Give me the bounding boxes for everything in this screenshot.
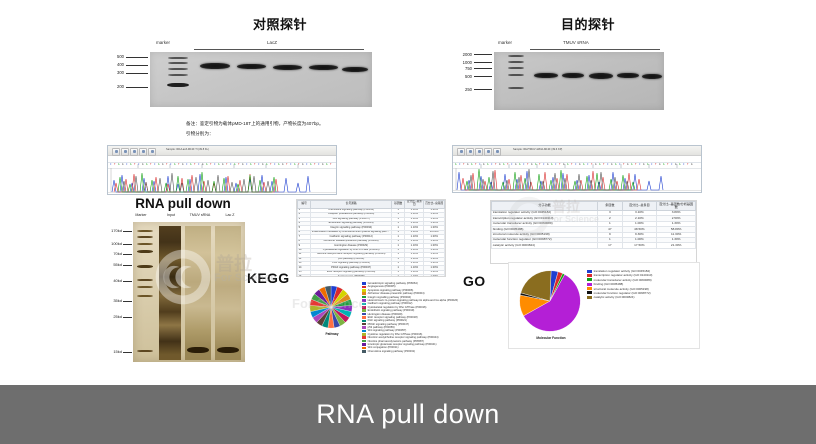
control-probe-title: 对照探针 [150,14,410,33]
protein-marker-band-6 [137,286,153,288]
go-table: 分子功能 条目数 百分比--总条目 百分比--基因数/分析基因数 transla… [491,201,696,249]
legend-swatch [362,343,366,346]
target-gel-lane-bracket [530,49,660,50]
target-ladder-tick-2 [474,68,492,69]
kegg-th-1: 信号通路 [311,201,392,209]
zoom-icon[interactable] [148,148,156,156]
legend-swatch [362,320,366,323]
protein-lane-label-1: Input [159,213,183,217]
legend-label: binding (GO:0005488) [594,282,624,286]
chromatogram-right-sample-label: Sample: 002/TMUV sRNA-M13F (39.6 KP) [513,148,562,151]
table-cell: 21.30% [657,243,696,248]
control-sample-band-4 [309,65,338,70]
note-line-2: 引物分别为： [186,131,214,138]
legend-item: structural molecule activity (GO:0005198… [587,287,652,291]
print-icon[interactable] [130,148,138,156]
chromatogram-left-trace [108,166,336,193]
control-marker-band-2 [168,68,188,70]
legend-item: Chemokine signaling pathway (P00031) [362,350,458,353]
chromatogram-right-toolbar[interactable]: Sample: 002/TMUV sRNA-M13F (39.6 KP) [453,146,701,156]
protein-marker-label-1: 100kd [100,241,122,246]
protein-lacz-band [217,347,239,353]
legend-swatch [587,278,592,281]
legend-label: structural molecule activity (GO:0005198… [594,287,649,291]
target-gel-image [494,52,664,110]
control-marker-band-4 [167,83,189,87]
control-marker-band-3 [168,74,188,76]
control-ladder-label-2: 300 [106,70,124,75]
target-ladder-tick-0 [474,54,492,55]
kegg-th-0: 编号 [298,201,311,209]
target-marker-band-1 [508,61,524,63]
protein-gel-panel: RNA pull down [108,196,258,211]
target-ladder-label-0: 2000 [456,52,472,57]
footer-title: RNA pull down [316,399,500,430]
legend-swatch [587,287,592,290]
control-ladder-tick-0 [126,57,148,58]
protein-marker-band-0 [137,230,153,232]
target-sample-band-1 [534,73,558,78]
go-chart-card: Molecular Function translation regulator… [508,262,700,349]
trace-peaks-icon [108,166,336,193]
target-sample-band-3 [589,73,613,79]
protein-marker-tick-6 [123,317,132,318]
target-ladder-tick-3 [474,76,492,77]
protein-marker-tick-4 [123,281,132,282]
kegg-legend: Gonadotropin signaling pathway (P06664)A… [362,282,458,353]
go-pie-caption: Molecular Function [511,336,591,340]
trace-peaks-icon [453,166,701,191]
protein-marker-tick-0 [123,231,132,232]
target-sample-band-5 [642,74,662,79]
control-probe-gel: marker LacZ 500 400 300 200 [132,40,412,115]
protein-marker-tick-5 [123,301,132,302]
protein-marker-label-0: 170kd [100,228,122,233]
protein-gel-title: RNA pull down [108,196,258,211]
protein-marker-band-5 [137,279,153,281]
legend-swatch [362,282,366,285]
legend-label: molecular transducer activity (GO:006008… [594,278,652,282]
kegg-th-3: 百分比--总条目 [405,201,424,209]
target-sample-band-4 [617,73,639,78]
control-gel-lane-bracket [194,49,364,50]
legend-item: molecular function regulator (GO:0098772… [587,291,652,295]
go-section-label: GO [463,273,485,289]
control-marker-band-1 [168,62,188,64]
control-ladder-label-0: 500 [106,54,124,59]
legend-swatch [362,350,366,353]
protein-marker-band-2 [137,243,153,245]
control-probe-panel: 对照探针 [150,14,410,33]
legend-swatch [362,323,366,326]
kegg-pie-icon [308,284,354,330]
legend-label: translation regulator activity (GO:00451… [594,269,651,273]
legend-item: catalytic activity (GO:0003824) [587,295,652,299]
save-icon[interactable] [484,148,492,156]
go-th-3: 百分比--基因数/分析基因数 [657,202,696,211]
target-probe-title: 目的探针 [478,14,698,33]
chromatogram-left-toolbar[interactable]: Sample: 001/LacZ-M13F TI (39.8 KL) [108,146,336,156]
protein-marker-label-7: 15kd [100,349,122,354]
control-sample-band-2 [237,64,266,69]
protein-marker-band-4 [137,265,153,268]
protein-marker-label-5: 35kd [100,298,122,303]
control-ladder-tick-2 [126,73,148,74]
target-marker-band-4 [508,87,524,89]
legend-item: molecular transducer activity (GO:006008… [587,278,652,282]
legend-swatch [362,340,366,343]
chromatogram-right[interactable]: Sample: 002/TMUV sRNA-M13F (39.6 KP) AC … [452,145,702,193]
protein-lane-label-3: Lac Z [219,213,241,217]
table-row: 16Angiogenesis (P00005)11.10%1.30% [298,275,445,277]
legend-swatch [587,291,592,294]
go-table-body: translation regulator activity (GO:00451… [492,210,696,248]
kegg-pie-caption: Pathway [306,332,358,336]
table-cell: 1.30% [424,275,445,277]
table-cell: Angiogenesis (P00005) [311,275,392,277]
control-ladder-tick-1 [126,65,148,66]
kegg-th-2: 基因数 [392,201,405,209]
protein-marker-tick-3 [123,265,132,266]
target-ladder-label-1: 1000 [456,60,472,65]
protein-gel-image [133,222,245,362]
protein-marker-band-7 [137,295,153,297]
control-ladder-tick-3 [126,87,148,88]
table-cell: 1 [392,275,405,277]
table-cell: 17 [598,243,622,248]
control-gel-image [150,52,372,107]
kegg-table: 编号 信号通路 基因数 百分比--总条目 百分比--总基因 1Chemokine… [297,200,445,277]
legend-swatch [362,289,366,292]
legend-swatch [587,283,592,286]
target-ladder-label-4: 250 [456,87,472,92]
chromatogram-left-sample-label: Sample: 001/LacZ-M13F TI (39.8 KL) [166,148,209,151]
print-icon[interactable] [475,148,483,156]
control-ladder-label-1: 400 [106,62,124,67]
protein-marker-tick-7 [123,352,132,353]
legend-label: catalytic activity (GO:0003824) [594,295,635,299]
table-cell: 16 [298,275,311,277]
protein-marker-label-6: 25kd [100,314,122,319]
export-icon[interactable] [121,148,129,156]
control-ladder-label-3: 200 [106,84,124,89]
go-th-1: 条目数 [598,202,622,211]
target-ladder-label-3: 500 [456,74,472,79]
target-ladder-tick-1 [474,62,492,63]
legend-swatch [362,306,366,309]
go-legend: translation regulator activity (GO:00451… [587,269,652,300]
legend-swatch [362,313,366,316]
kegg-th-4: 百分比--总基因 [424,201,445,209]
control-sample-band-5 [342,67,368,72]
legend-item: transcription regulator activity (GO:014… [587,273,652,277]
kegg-table-body: 1Chemokine signaling pathway (P00031)11.… [298,208,445,277]
target-probe-gel: marker TMUV sRNA 2000 1000 750 500 250 [478,40,693,115]
kegg-section-label: KEGG [247,270,289,286]
protein-tmuv-lane-smear [185,226,211,360]
go-table-header-row: 分子功能 条目数 百分比--总条目 百分比--基因数/分析基因数 [492,202,696,211]
target-ladder-tick-4 [474,89,492,90]
control-marker-band-0 [168,57,188,59]
chromatogram-left[interactable]: Sample: 001/LacZ-M13F TI (39.8 KL) CT AG… [107,145,337,195]
control-gel-lane-group-label: LacZ [267,40,277,45]
kegg-table-header-row: 编号 信号通路 基因数 百分比--总条目 百分比--总基因 [298,201,445,209]
zoom-icon[interactable] [493,148,501,156]
legend-label: transcription regulator activity (GO:014… [594,273,653,277]
kegg-chart: Pathway Gonadotropin signaling pathway (… [300,282,445,344]
target-marker-band-2 [508,67,524,69]
protein-lane-label-2: TMUV sRNA [183,213,217,217]
note-line-1: 备注：鉴定引物为载体pMD-18T上的通用引物，产物长度为407bp。 [186,121,324,128]
legend-swatch [362,296,366,299]
table-row: catalytic activity (GO:0003824)1717.50%2… [492,243,696,248]
legend-swatch [362,316,366,319]
legend-swatch [362,330,366,333]
protein-marker-band-8 [137,350,153,352]
target-ladder-label-2: 750 [456,66,472,71]
legend-swatch [362,309,366,312]
chromatogram-right-trace [453,166,701,191]
protein-lane-label-0: Marker [128,213,154,217]
target-probe-panel: 目的探针 [478,14,698,33]
legend-swatch [362,299,366,302]
legend-label: Chemokine signaling pathway (P00031) [368,350,416,353]
target-marker-band-3 [508,74,524,76]
target-sample-band-2 [562,73,584,78]
go-pie-icon [517,268,583,334]
legend-swatch [362,326,366,329]
export-icon[interactable] [466,148,474,156]
target-gel-lane-group-label: TMUV sRNA [563,40,589,45]
protein-tmuv-band [187,347,209,353]
protein-marker-band-1 [137,236,153,238]
legend-item: translation regulator activity (GO:00451… [587,269,652,273]
legend-swatch [587,270,592,273]
open-icon[interactable] [457,148,465,156]
open-icon[interactable] [112,148,120,156]
protein-marker-label-4: 40kd [100,278,122,283]
go-th-0: 分子功能 [492,202,598,211]
legend-swatch [362,286,366,289]
legend-swatch [362,303,366,306]
protein-marker-label-2: 70kd [100,251,122,256]
legend-swatch [587,274,592,277]
protein-marker-band-3 [137,250,153,253]
control-gel-marker-label: marker [156,40,170,45]
figure-canvas: 对照探针 marker LacZ 500 400 300 200 [0,0,816,444]
legend-swatch [362,292,366,295]
legend-item: binding (GO:0005488) [587,282,652,286]
legend-swatch [362,347,366,350]
legend-swatch [362,333,366,336]
protein-lacz-lane-smear [215,226,241,360]
table-cell: 17.50% [622,243,657,248]
protein-marker-tick-1 [123,244,132,245]
kegg-table-card[interactable]: 编号 信号通路 基因数 百分比--总条目 百分比--总基因 1Chemokine… [296,199,446,277]
table-cell: 1.10% [405,275,424,277]
legend-swatch [362,336,366,339]
footer-bar: RNA pull down [0,385,816,444]
protein-input-lane-smear [159,226,181,360]
legend-swatch [587,296,592,299]
target-marker-band-0 [508,55,524,57]
go-table-card[interactable]: 分子功能 条目数 百分比--总条目 百分比--基因数/分析基因数 transla… [490,200,697,264]
table-cell: catalytic activity (GO:0003824) [492,243,598,248]
legend-label: molecular function regulator (GO:0098772… [594,291,651,295]
go-th-2: 百分比--总条目 [622,202,657,211]
control-sample-band-1 [200,63,230,69]
target-gel-marker-label: marker [498,40,512,45]
protein-marker-label-3: 55kd [100,262,122,267]
protein-marker-tick-2 [123,254,132,255]
control-sample-band-3 [273,65,302,70]
save-icon[interactable] [139,148,147,156]
